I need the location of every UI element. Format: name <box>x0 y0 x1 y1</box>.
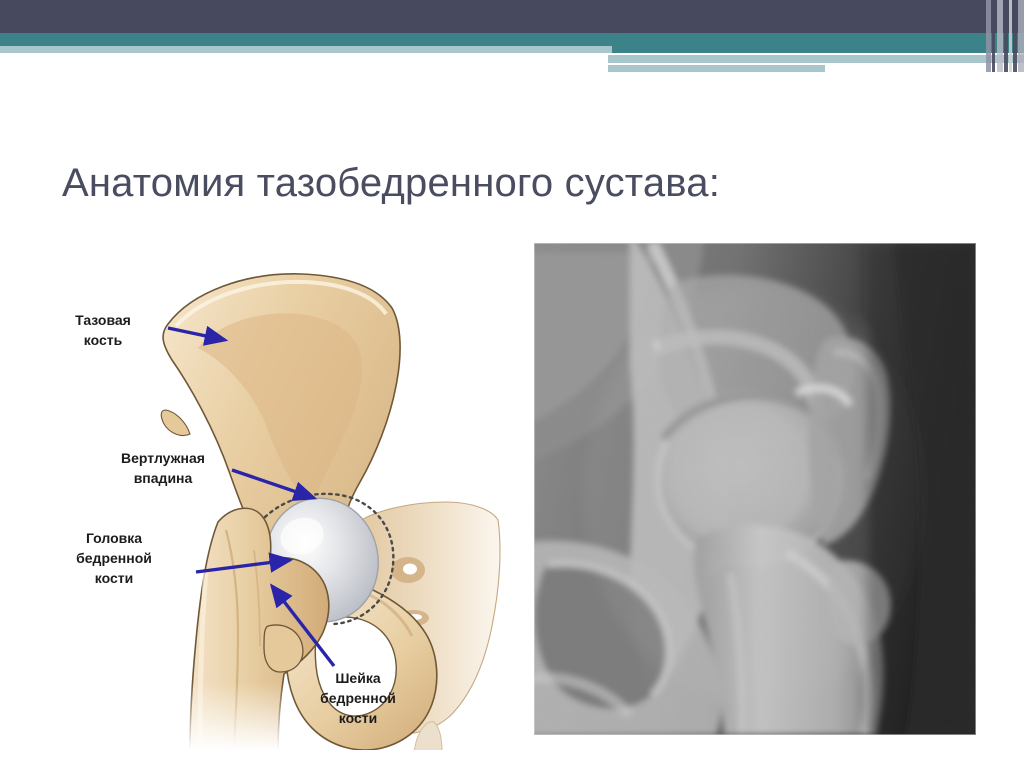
callout-label-femoral-head: Головка бедренной кости <box>38 528 190 588</box>
header-band-teal-step <box>608 33 1024 53</box>
header-band-dark <box>0 0 1024 33</box>
callout-label-acetabulum: Вертлужная впадина <box>92 448 234 488</box>
radiograph-grain <box>534 243 976 735</box>
callout-label-pelvic-bone: Тазовая кость <box>38 310 168 350</box>
page-title: Анатомия тазобедренного сустава: <box>62 157 962 209</box>
header-band-light-3 <box>608 65 825 72</box>
decorative-header-banner <box>0 0 1024 80</box>
header-stripes-svg <box>984 0 1024 80</box>
header-band-light-2 <box>608 55 1024 63</box>
hip-joint-radiograph <box>534 243 976 735</box>
header-band-light-1 <box>0 46 612 53</box>
slide-canvas: Анатомия тазобедренного сустава: <box>0 0 1024 768</box>
radiograph-svg <box>534 243 976 735</box>
hip-anatomy-illustration <box>40 230 520 750</box>
callout-label-femoral-neck: Шейка бедренной кости <box>288 668 428 728</box>
hip-anatomy-svg <box>40 230 520 750</box>
header-vertical-stripes <box>984 0 1024 80</box>
